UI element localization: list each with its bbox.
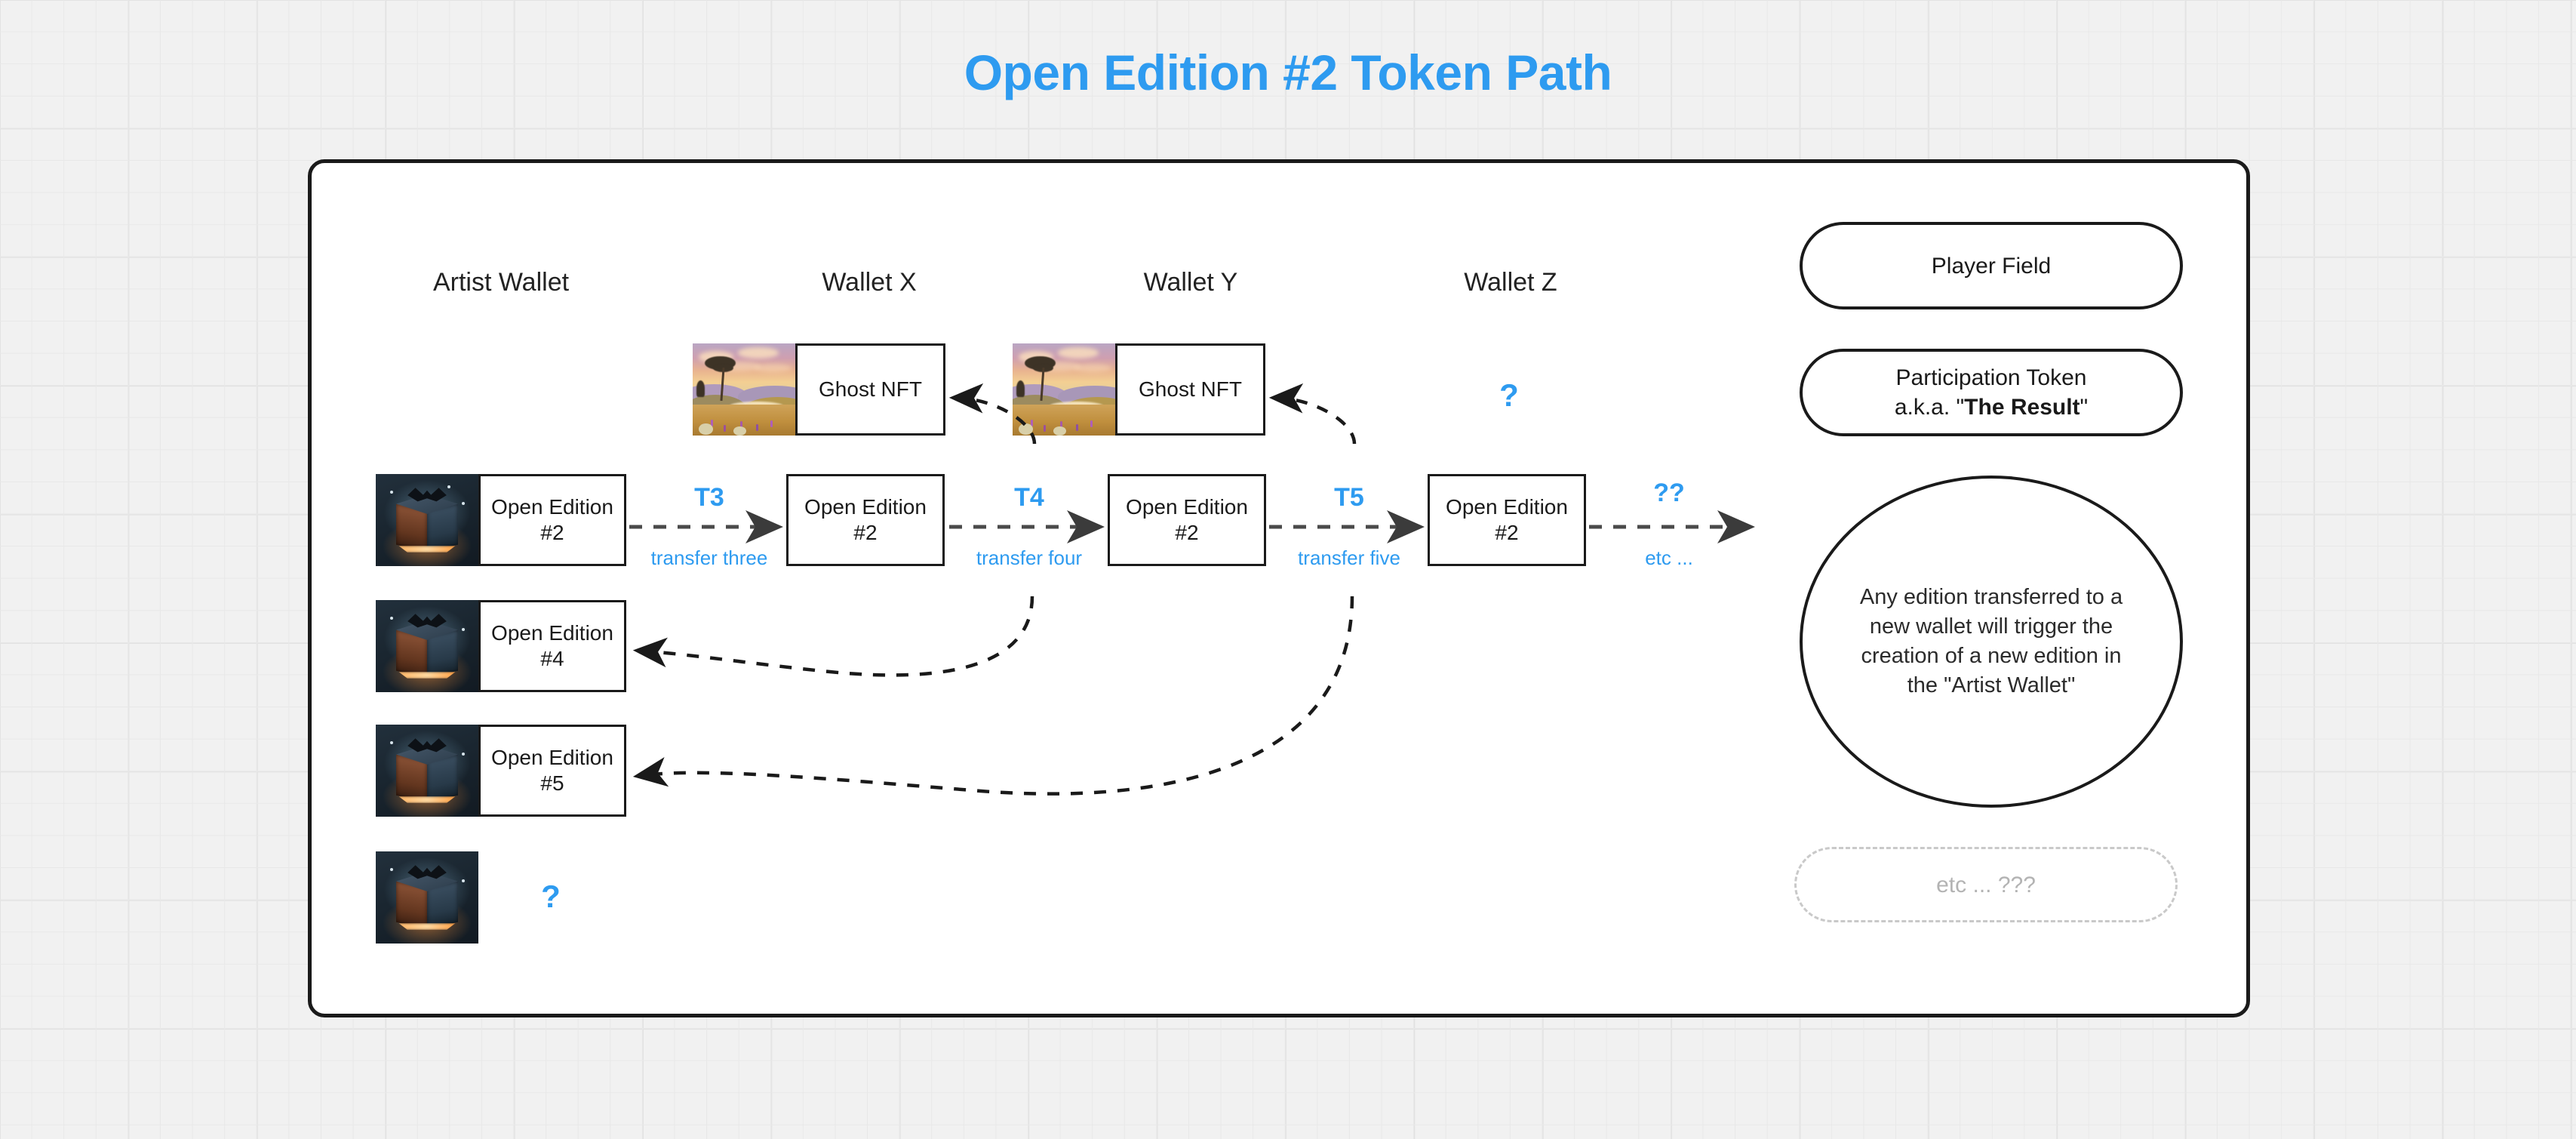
landscape-nft-thumb [1013, 343, 1115, 436]
token-label-wallet-y: Open Edition #2 [1108, 474, 1266, 566]
legend-note-circle: Any edition transferred to a new wallet … [1800, 476, 2183, 808]
legend-note-text: Any edition transferred to a new wallet … [1843, 583, 2139, 701]
participation-token-bold: The Result [1964, 395, 2080, 420]
legend-etc-pill[interactable]: etc ... ??? [1794, 847, 2178, 922]
token-node-wallet-z-edition-2[interactable]: Open Edition #2 [1428, 474, 1586, 566]
ghost-nft-node-wallet-x[interactable]: Ghost NFT [693, 343, 945, 436]
participation-token-suffix: " [2080, 395, 2089, 420]
transfer-desc-t5: transfer five [1298, 546, 1400, 570]
giftbox-nft-thumb [376, 600, 478, 692]
token-label-line2: #4 [540, 646, 564, 672]
ghost-nft-label-wallet-x: Ghost NFT [795, 343, 945, 436]
participation-token-prefix: a.k.a. " [1895, 395, 1964, 420]
legend-etc-label: etc ... ??? [1936, 870, 2036, 900]
transfer-code-t5: T5 [1334, 483, 1364, 513]
token-label-artist-edition-4: Open Edition #4 [478, 600, 626, 692]
token-label-line1: Open Edition [491, 494, 613, 520]
legend-player-field-label: Player Field [1932, 251, 2051, 281]
column-header-artist-wallet: Artist Wallet [433, 268, 569, 297]
giftbox-nft-thumb [376, 851, 478, 944]
token-label-artist-edition-2: Open Edition #2 [478, 474, 626, 566]
ghost-nft-unknown-marker-wallet-z: ? [1499, 377, 1519, 414]
token-label-line2: #2 [853, 520, 877, 546]
legend-participation-token-line1: Participation Token [1896, 363, 2087, 392]
token-node-artist-edition-4[interactable]: Open Edition #4 [376, 600, 626, 692]
transfer-desc-etc: etc ... [1645, 546, 1693, 570]
token-node-wallet-x-edition-2[interactable]: Open Edition #2 [786, 474, 945, 566]
token-node-wallet-y-edition-2[interactable]: Open Edition #2 [1108, 474, 1266, 566]
token-label-line1: Open Edition [491, 620, 613, 646]
token-label-line2: #5 [540, 771, 564, 796]
token-label-wallet-x: Open Edition #2 [786, 474, 945, 566]
token-label-line2: #2 [540, 520, 564, 546]
transfer-code-t4: T4 [1014, 483, 1044, 513]
token-node-artist-edition-2[interactable]: Open Edition #2 [376, 474, 626, 566]
giftbox-nft-thumb [376, 725, 478, 817]
legend-participation-token-line2: a.k.a. "The Result" [1895, 392, 2088, 422]
token-label-artist-edition-5: Open Edition #5 [478, 725, 626, 817]
transfer-code-t3: T3 [694, 483, 724, 513]
column-header-wallet-x: Wallet X [822, 268, 916, 297]
token-label-line2: #2 [1495, 520, 1518, 546]
giftbox-nft-thumb [376, 474, 478, 566]
legend-participation-token-pill[interactable]: Participation Token a.k.a. "The Result" [1800, 349, 2183, 436]
transfer-desc-t4: transfer four [976, 546, 1082, 570]
landscape-nft-thumb [693, 343, 795, 436]
token-label-line1: Open Edition [1126, 494, 1248, 520]
artist-unknown-marker: ? [541, 879, 561, 915]
token-node-artist-edition-5[interactable]: Open Edition #5 [376, 725, 626, 817]
page-title: Open Edition #2 Token Path [0, 44, 2576, 101]
column-header-wallet-z: Wallet Z [1464, 268, 1557, 297]
token-label-line1: Open Edition [491, 745, 613, 771]
ghost-nft-node-wallet-y[interactable]: Ghost NFT [1013, 343, 1265, 436]
ghost-nft-label-wallet-y: Ghost NFT [1115, 343, 1265, 436]
transfer-code-unknown: ?? [1653, 479, 1685, 508]
token-label-line1: Open Edition [1446, 494, 1568, 520]
token-label-line1: Open Edition [804, 494, 927, 520]
legend-player-field-pill[interactable]: Player Field [1800, 222, 2183, 309]
token-label-line2: #2 [1175, 520, 1198, 546]
column-header-wallet-y: Wallet Y [1144, 268, 1238, 297]
transfer-desc-t3: transfer three [651, 546, 768, 570]
token-label-wallet-z: Open Edition #2 [1428, 474, 1586, 566]
